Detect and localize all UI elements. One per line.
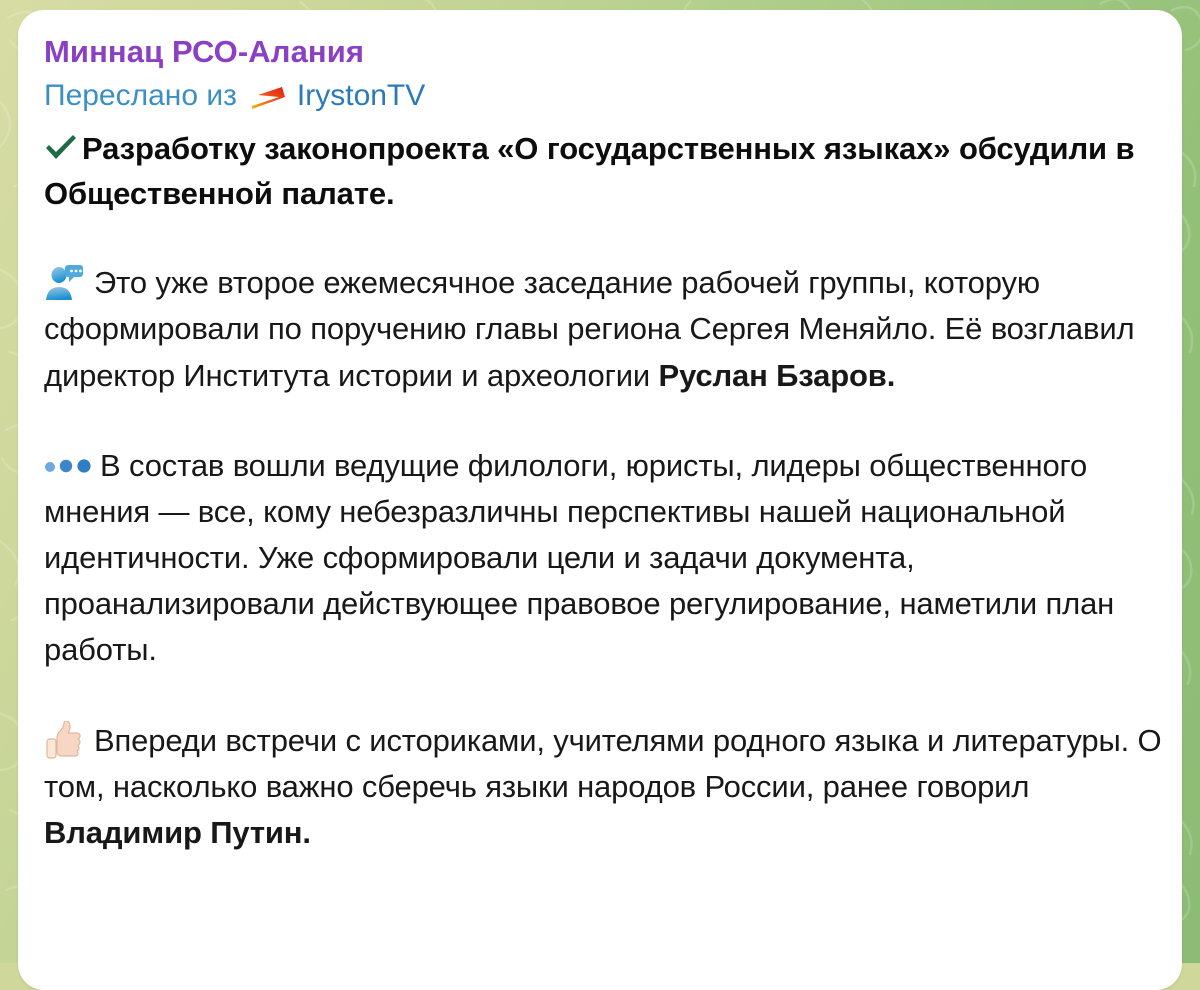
forwarded-from-label: Переслано из bbox=[44, 75, 237, 117]
message-paragraph-2: В состав вошли ведущие филологи, юристы,… bbox=[44, 443, 1168, 674]
message-paragraph-3: Впереди встречи с историками, учителями … bbox=[44, 718, 1168, 857]
forward-arrow-icon bbox=[249, 83, 287, 113]
forwarded-from-line: Переслано из IrystonTV bbox=[44, 75, 1168, 117]
paragraph-2-text-normal: В состав вошли ведущие филологи, юристы,… bbox=[44, 448, 1114, 668]
message-headline: Разработку законопроекта «О государствен… bbox=[44, 127, 1168, 216]
forwarded-from-source[interactable]: IrystonTV bbox=[297, 75, 425, 117]
thumbs-up-icon bbox=[44, 721, 84, 761]
paragraph-3-text-normal: Впереди встречи с историками, учителями … bbox=[44, 723, 1161, 804]
message-content: Миннац РСО-Алания Переслано из IrystonTV bbox=[44, 32, 1168, 856]
headline-text: Разработку законопроекта «О государствен… bbox=[44, 131, 1134, 211]
channel-title[interactable]: Миннац РСО-Алания bbox=[44, 32, 1168, 73]
message-paragraph-1: Это уже второе ежемесячное заседание раб… bbox=[44, 260, 1168, 399]
three-dots-icon bbox=[44, 458, 92, 474]
speaking-head-icon bbox=[44, 264, 84, 302]
paragraph-1-text-normal: Это уже второе ежемесячное заседание раб… bbox=[44, 265, 1134, 392]
paragraph-1-text-bold: Руслан Бзаров. bbox=[659, 358, 896, 393]
check-mark-icon bbox=[44, 133, 78, 163]
paragraph-3-text-bold: Владимир Путин. bbox=[44, 815, 311, 850]
message-bubble[interactable]: Миннац РСО-Алания Переслано из IrystonTV bbox=[18, 10, 1182, 990]
